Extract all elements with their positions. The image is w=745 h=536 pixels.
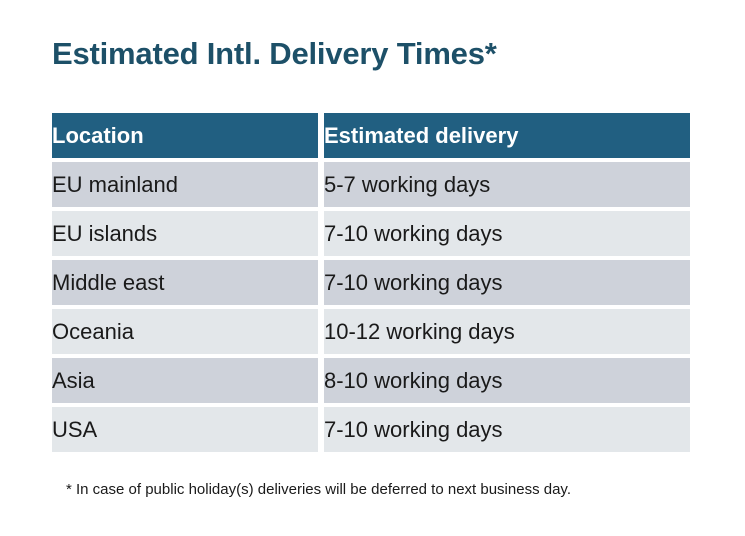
footnote-text: * In case of public holiday(s) deliverie… [66, 481, 571, 498]
table-row: EU mainland 5-7 working days [52, 162, 690, 207]
estimated-delivery-table: Location Estimated delivery EU mainland … [52, 113, 690, 452]
cell-location: Asia [52, 358, 318, 403]
table-row: Asia 8-10 working days [52, 358, 690, 403]
page-title: Estimated Intl. Delivery Times* [52, 36, 497, 72]
cell-estimate: 7-10 working days [324, 211, 690, 256]
cell-location: EU mainland [52, 162, 318, 207]
cell-estimate: 5-7 working days [324, 162, 690, 207]
table-header-row: Location Estimated delivery [52, 113, 690, 158]
cell-estimate: 7-10 working days [324, 407, 690, 452]
column-header-location: Location [52, 113, 318, 158]
cell-location: EU islands [52, 211, 318, 256]
table-header: Location Estimated delivery [52, 113, 690, 158]
table-row: EU islands 7-10 working days [52, 211, 690, 256]
column-header-estimated-delivery: Estimated delivery [324, 113, 690, 158]
cell-estimate: 10-12 working days [324, 309, 690, 354]
cell-location: Middle east [52, 260, 318, 305]
table-row: Oceania 10-12 working days [52, 309, 690, 354]
delivery-times-page: Estimated Intl. Delivery Times* Location… [0, 0, 745, 536]
cell-estimate: 7-10 working days [324, 260, 690, 305]
cell-location: USA [52, 407, 318, 452]
cell-location: Oceania [52, 309, 318, 354]
cell-estimate: 8-10 working days [324, 358, 690, 403]
table-row: USA 7-10 working days [52, 407, 690, 452]
table-row: Middle east 7-10 working days [52, 260, 690, 305]
table-body: EU mainland 5-7 working days EU islands … [52, 158, 690, 452]
